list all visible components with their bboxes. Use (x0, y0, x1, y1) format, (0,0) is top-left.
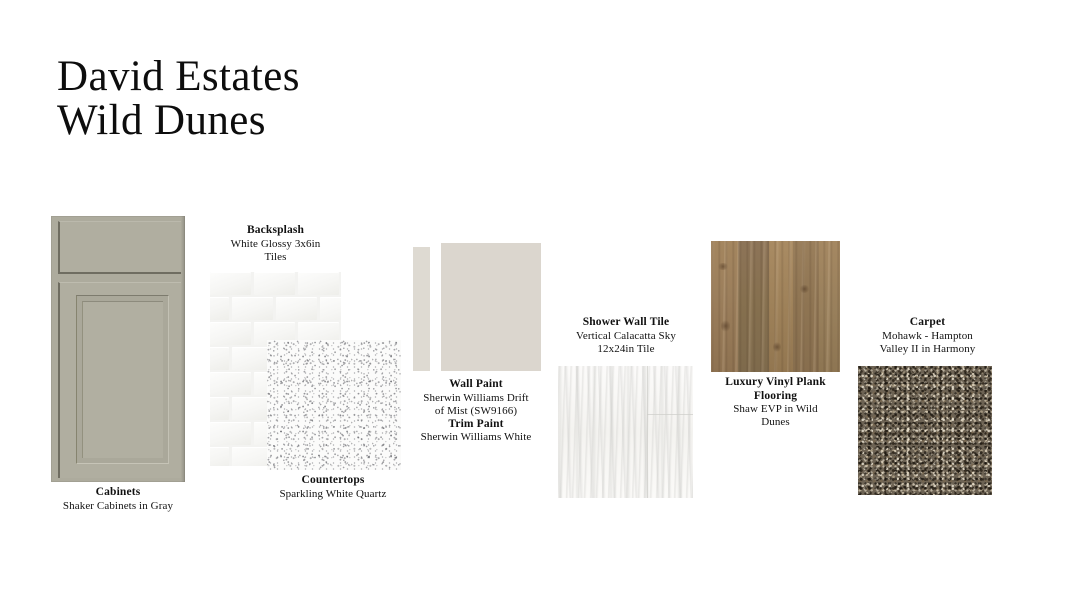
cabinets-caption-title: Cabinets (31, 486, 205, 500)
wood-knot (773, 341, 781, 353)
paint-caption: Wall Paint Sherwin Williams Drift of Mis… (411, 378, 541, 444)
backsplash-caption-description-1: White Glossy 3x6in (198, 238, 353, 251)
wood-knot (799, 285, 810, 293)
wall-paint-caption-description-2: of Mist (SW9166) (411, 405, 541, 418)
luxury-vinyl-plank-caption-title-1: Luxury Vinyl Plank (703, 376, 848, 390)
subway-tile (210, 447, 229, 466)
subway-tile (276, 297, 317, 320)
quartz-fine-speckle (267, 340, 401, 470)
carpet-swatch (858, 366, 992, 495)
subway-tile (210, 372, 251, 395)
carpet-caption-title: Carpet (855, 316, 1000, 330)
shower-wall-tile-caption: Shower Wall Tile Vertical Calacatta Sky … (556, 316, 696, 356)
shower-wall-tile-caption-description-1: Vertical Calacatta Sky (556, 330, 696, 343)
luxury-vinyl-plank-caption-description-1: Shaw EVP in Wild (703, 403, 848, 416)
carpet-pile-texture-fine (858, 366, 992, 495)
trim-paint-swatch (413, 247, 430, 371)
countertops-caption: Countertops Sparkling White Quartz (253, 474, 413, 501)
shower-wall-tile-caption-title: Shower Wall Tile (556, 316, 696, 330)
backsplash-caption-title: Backsplash (198, 224, 353, 238)
cabinets-caption-description: Shaker Cabinets in Gray (31, 500, 205, 513)
wall-paint-caption-description-1: Sherwin Williams Drift (411, 392, 541, 405)
tile-row (210, 272, 341, 297)
wood-knot (721, 319, 730, 333)
luxury-vinyl-plank-swatch (711, 241, 840, 372)
wood-knot (717, 263, 729, 270)
shower-wall-tile-swatch (558, 366, 693, 498)
cabinet-door-panel (76, 295, 169, 464)
design-selections-board: David Estates Wild Dunes Cabinets Shaker… (0, 0, 1067, 600)
luxury-vinyl-plank-caption-title-2: Flooring (703, 390, 848, 404)
tile-seam-horizontal (647, 414, 693, 415)
shower-wall-tile-caption-description-2: 12x24in Tile (556, 343, 696, 356)
backsplash-caption-description-2: Tiles (198, 251, 353, 264)
tile-row (210, 297, 341, 322)
subway-tile (210, 297, 229, 320)
subway-tile (210, 272, 251, 295)
board-title-line-2: Wild Dunes (57, 99, 300, 143)
carpet-caption-description-1: Mohawk - Hampton (855, 330, 1000, 343)
board-title: David Estates Wild Dunes (57, 55, 300, 143)
cabinet-edge-shadow (181, 216, 185, 482)
subway-tile (298, 272, 339, 295)
subway-tile (210, 322, 251, 345)
countertops-caption-title: Countertops (253, 474, 413, 488)
trim-paint-caption-title: Trim Paint (411, 418, 541, 432)
cabinet-door-panel-inner (82, 301, 163, 458)
tile-seam-vertical (647, 366, 648, 498)
luxury-vinyl-plank-caption-description-2: Dunes (703, 416, 848, 429)
countertops-caption-description: Sparkling White Quartz (253, 488, 413, 501)
backsplash-caption: Backsplash White Glossy 3x6in Tiles (198, 224, 353, 264)
luxury-vinyl-plank-caption: Luxury Vinyl Plank Flooring Shaw EVP in … (703, 376, 848, 429)
cabinets-caption: Cabinets Shaker Cabinets in Gray (31, 486, 205, 513)
marble-veining (558, 366, 693, 498)
board-title-line-1: David Estates (57, 55, 300, 99)
wall-paint-caption-title: Wall Paint (411, 378, 541, 392)
carpet-caption: Carpet Mohawk - Hampton Valley II in Har… (855, 316, 1000, 356)
wall-paint-swatch (441, 243, 541, 371)
trim-paint-caption-description: Sherwin Williams White (411, 431, 541, 444)
subway-tile (210, 347, 229, 370)
subway-tile (210, 397, 229, 420)
subway-tile (320, 297, 341, 320)
countertops-swatch (267, 340, 401, 470)
subway-tile (232, 297, 273, 320)
cabinets-swatch (51, 216, 185, 482)
subway-tile (254, 272, 295, 295)
carpet-caption-description-2: Valley II in Harmony (855, 343, 1000, 356)
cabinet-drawer-front (58, 221, 181, 274)
subway-tile (210, 422, 251, 445)
cabinet-door-front (58, 282, 181, 478)
